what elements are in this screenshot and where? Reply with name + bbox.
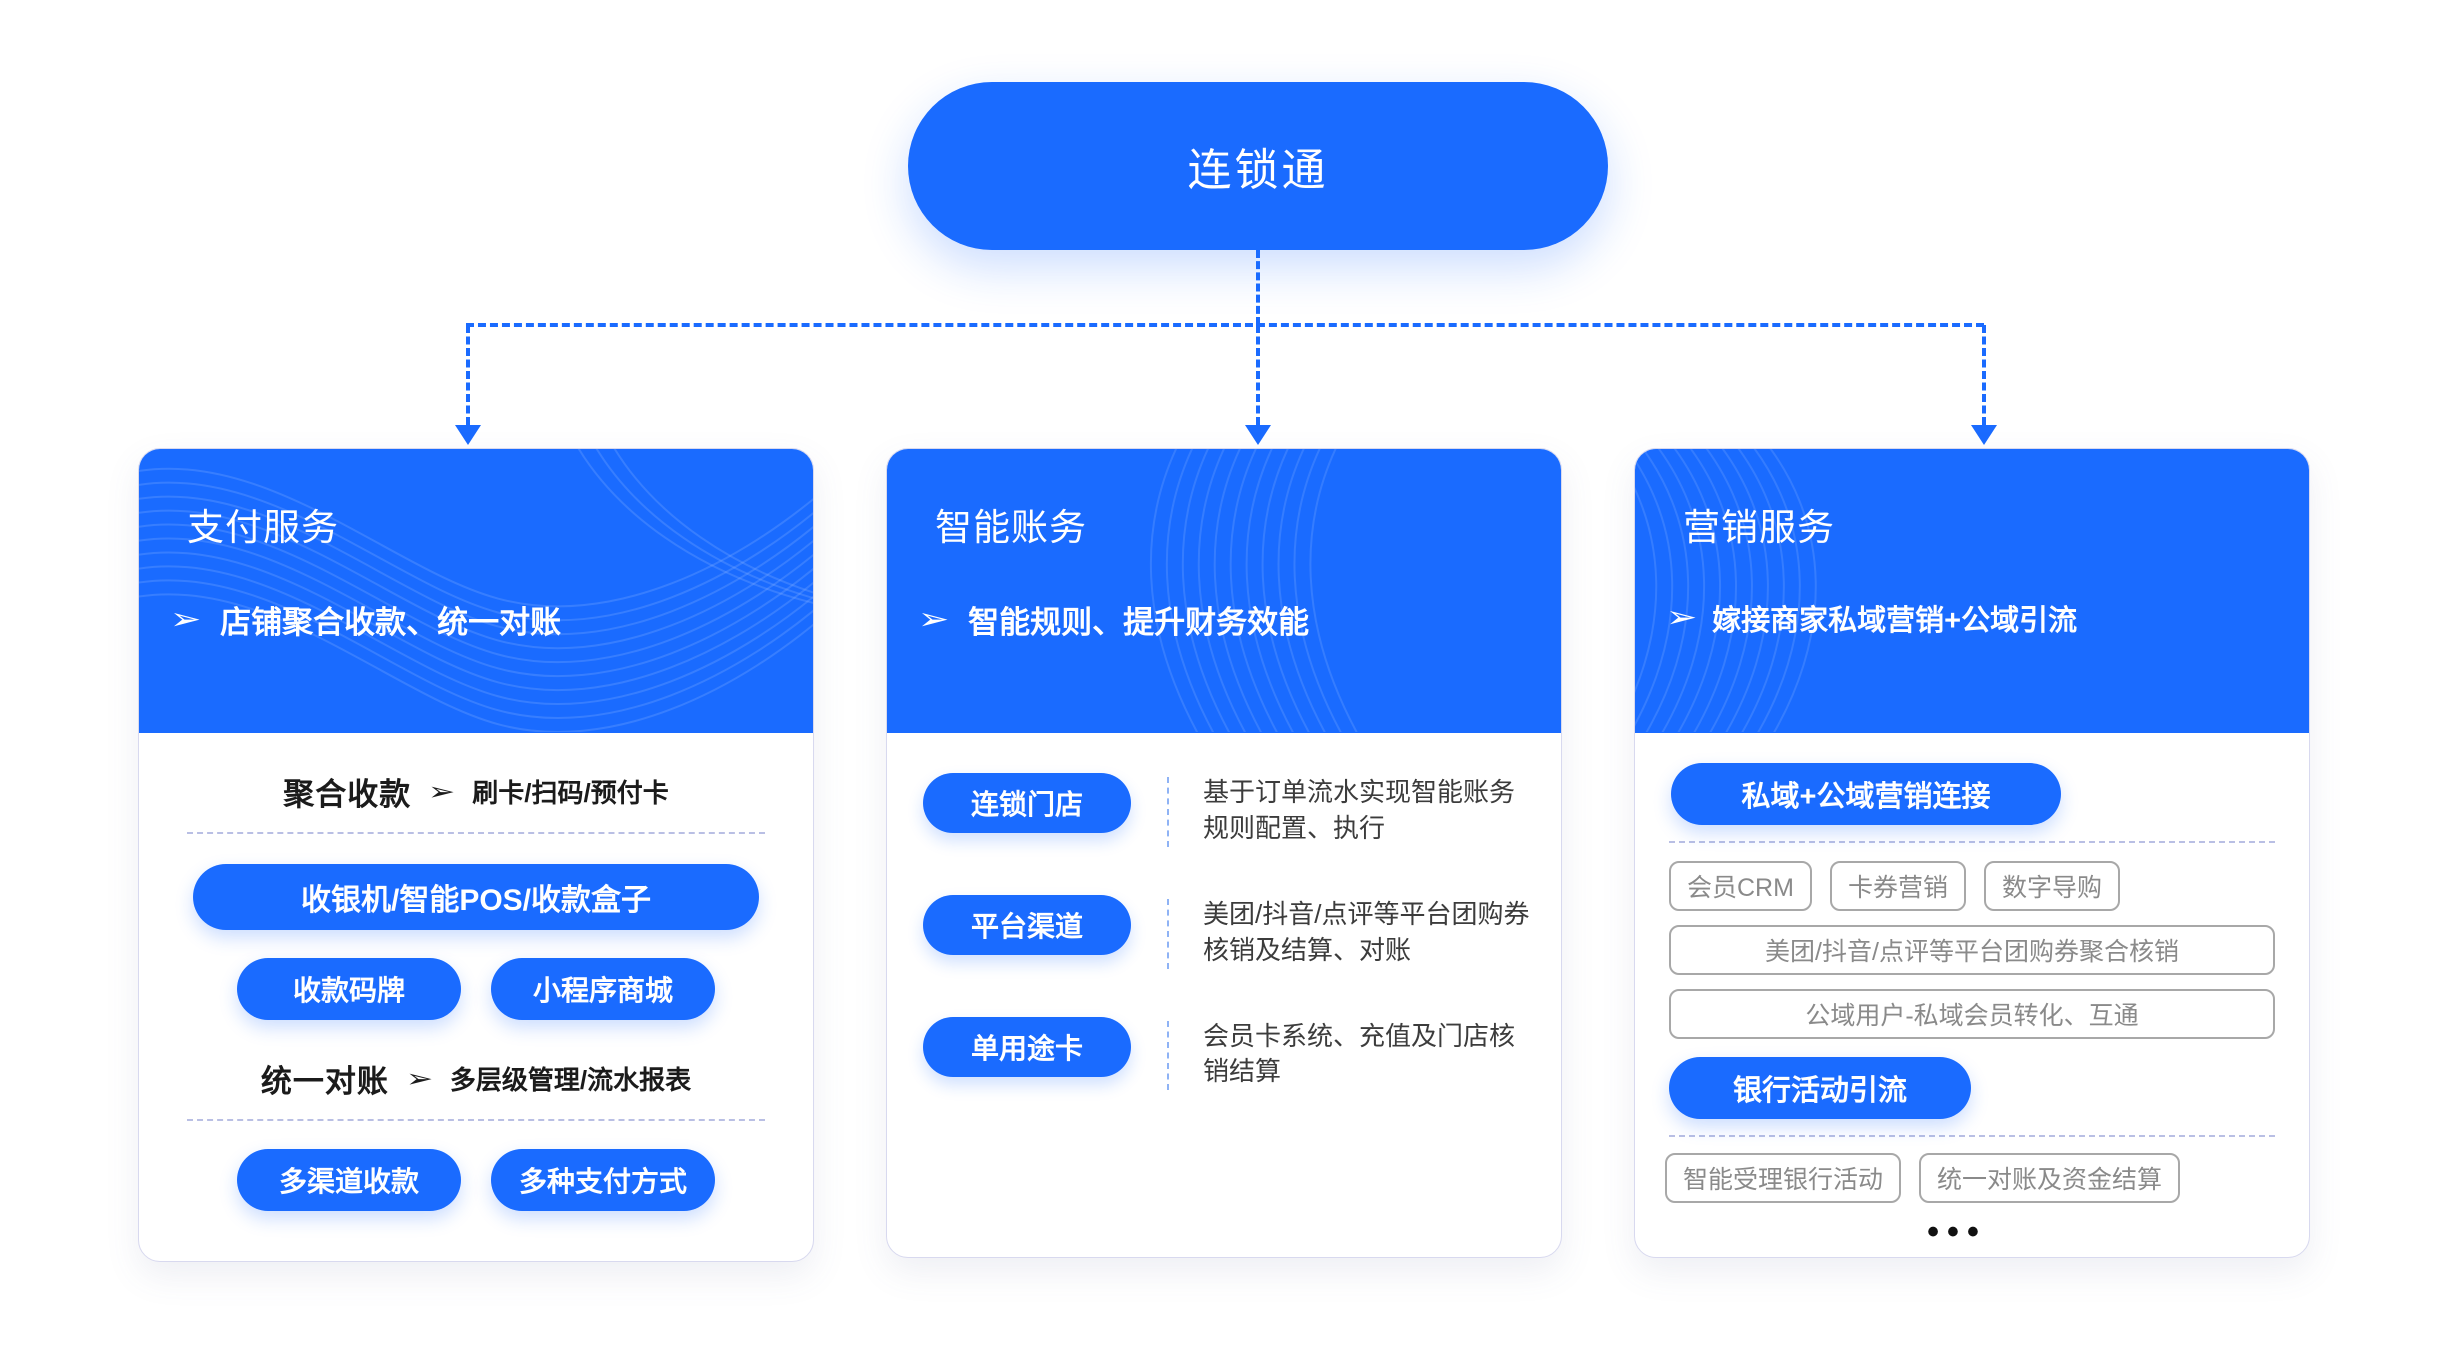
card2-subtitle: 智能规则、提升财务效能 (968, 597, 1309, 642)
card2-feature-row-1: 连锁门店 基于订单流水实现智能账务规则配置、执行 (913, 773, 1535, 847)
card3-tag-digital-guide[interactable]: 数字导购 (1984, 861, 2120, 911)
card2-subtitle-row: ➢ 智能规则、提升财务效能 (921, 597, 1527, 642)
card1-header: 支付服务 ➢ 店铺聚合收款、统一对账 (139, 449, 813, 733)
card1-section2-title: 统一对账 (261, 1056, 389, 1101)
connector-drop-card3 (1982, 325, 1986, 425)
card1-divider-2 (187, 1119, 765, 1121)
card1-section1-sub: 刷卡/扫码/预付卡 (472, 773, 668, 810)
wave-decoration-icon (1635, 449, 2309, 732)
card3-tag-groupon-redemption[interactable]: 美团/抖音/点评等平台团购券聚合核销 (1669, 925, 2275, 975)
card1-pill-qrcode[interactable]: 收款码牌 (237, 958, 461, 1020)
arrow-icon-card2 (1245, 425, 1271, 445)
chevron-right-icon: ➢ (428, 777, 455, 807)
card3-tag-smart-bank-activity[interactable]: 智能受理银行活动 (1665, 1153, 1901, 1203)
card2-desc-3: 会员卡系统、充值及门店核销结算 (1203, 1017, 1535, 1091)
card3-title: 营销服务 (1683, 497, 2275, 551)
chevron-right-icon: ➢ (170, 605, 201, 635)
card1-subtitle: 店铺聚合收款、统一对账 (220, 597, 561, 642)
card2-pill-single-use-card[interactable]: 单用途卡 (923, 1017, 1131, 1077)
card-marketing-service[interactable]: 营销服务 ➢ 嫁接商家私域营销+公域引流 私域+公域营销连接 会员CRM 卡券营… (1634, 448, 2310, 1258)
card1-title: 支付服务 (187, 497, 779, 551)
card1-section1-heading: 聚合收款 ➢ 刷卡/扫码/预付卡 (165, 769, 787, 814)
card3-tagrow-2: 美团/抖音/点评等平台团购券聚合核销 (1669, 925, 2275, 975)
connector-stem (1256, 250, 1260, 325)
card1-section2-sub: 多层级管理/流水报表 (450, 1060, 691, 1097)
connector-drop-card2 (1256, 325, 1260, 425)
wave-decoration-icon (139, 449, 813, 732)
card2-desc-1: 基于订单流水实现智能账务规则配置、执行 (1203, 773, 1535, 847)
card1-pill-multipay[interactable]: 多种支付方式 (491, 1149, 715, 1211)
chevron-right-icon: ➢ (406, 1064, 433, 1094)
card-payment-service[interactable]: 支付服务 ➢ 店铺聚合收款、统一对账 聚合收款 ➢ 刷卡/扫码/预付卡 收银机/… (138, 448, 814, 1262)
connector-drop-card1 (466, 325, 470, 425)
card1-pillrow-3: 多渠道收款 多种支付方式 (165, 1149, 787, 1211)
root-node-label: 连锁通 (1188, 134, 1329, 198)
card-smart-accounting[interactable]: 智能账务 ➢ 智能规则、提升财务效能 连锁门店 基于订单流水实现智能账务规则配置… (886, 448, 1562, 1258)
card1-pillrow-2: 收款码牌 小程序商城 (165, 958, 787, 1020)
card1-pill-miniprogram[interactable]: 小程序商城 (491, 958, 715, 1020)
card3-tagrow-4: 智能受理银行活动 统一对账及资金结算 (1665, 1153, 2283, 1203)
card1-subtitle-row: ➢ 店铺聚合收款、统一对账 (173, 597, 779, 642)
card2-divider-1 (1167, 777, 1169, 847)
card2-pill-chain-store[interactable]: 连锁门店 (923, 773, 1131, 833)
card1-pill-pos[interactable]: 收银机/智能POS/收款盒子 (193, 864, 759, 930)
card3-divider-2 (1669, 1135, 2275, 1137)
card3-tag-unified-settlement[interactable]: 统一对账及资金结算 (1919, 1153, 2180, 1203)
arrow-icon-card3 (1971, 425, 1997, 445)
card2-desc-2: 美团/抖音/点评等平台团购券核销及结算、对账 (1203, 895, 1535, 969)
card1-divider-1 (187, 832, 765, 834)
card2-feature-row-3: 单用途卡 会员卡系统、充值及门店核销结算 (913, 1017, 1535, 1091)
card1-section2-heading: 统一对账 ➢ 多层级管理/流水报表 (165, 1056, 787, 1101)
connector-bus (466, 323, 1984, 327)
card1-body: 聚合收款 ➢ 刷卡/扫码/预付卡 收银机/智能POS/收款盒子 收款码牌 小程序… (139, 769, 813, 1211)
card3-header: 营销服务 ➢ 嫁接商家私域营销+公域引流 (1635, 449, 2309, 733)
chevron-right-icon: ➢ (918, 605, 949, 635)
card3-tagrow-3: 公域用户-私域会员转化、互通 (1669, 989, 2275, 1039)
card3-divider-1 (1669, 841, 2275, 843)
card3-more-indicator[interactable]: ••• (1661, 1215, 2253, 1249)
card1-section1-title: 聚合收款 (283, 769, 411, 814)
card3-tagrow-1: 会员CRM 卡券营销 数字导购 (1669, 861, 2283, 911)
chevron-right-icon: ➢ (1666, 603, 1697, 633)
card3-tag-coupon-marketing[interactable]: 卡券营销 (1830, 861, 1966, 911)
card3-body: 私域+公域营销连接 会员CRM 卡券营销 数字导购 美团/抖音/点评等平台团购券… (1635, 763, 2309, 1249)
card2-title: 智能账务 (935, 497, 1527, 551)
card2-header: 智能账务 ➢ 智能规则、提升财务效能 (887, 449, 1561, 733)
card3-leadpill-row: 私域+公域营销连接 (1661, 763, 2283, 825)
card3-pill-private-public-link[interactable]: 私域+公域营销连接 (1671, 763, 2061, 825)
card2-pill-platform-channel[interactable]: 平台渠道 (923, 895, 1131, 955)
card2-feature-row-2: 平台渠道 美团/抖音/点评等平台团购券核销及结算、对账 (913, 895, 1535, 969)
arrow-icon-card1 (455, 425, 481, 445)
diagram-canvas: 连锁通 (0, 0, 2440, 1372)
card3-pill-bank-activity[interactable]: 银行活动引流 (1669, 1057, 1971, 1119)
card2-divider-3 (1167, 1021, 1169, 1091)
card3-bankpill-row: 银行活动引流 (1661, 1057, 2283, 1119)
wave-decoration-icon (887, 449, 1561, 732)
card1-pill-multichannel[interactable]: 多渠道收款 (237, 1149, 461, 1211)
root-node[interactable]: 连锁通 (908, 82, 1608, 250)
card3-subtitle-row: ➢ 嫁接商家私域营销+公域引流 (1669, 597, 2275, 639)
card3-subtitle: 嫁接商家私域营销+公域引流 (1712, 597, 2077, 639)
card1-pillrow-1: 收银机/智能POS/收款盒子 (165, 864, 787, 930)
card2-body: 连锁门店 基于订单流水实现智能账务规则配置、执行 平台渠道 美团/抖音/点评等平… (887, 773, 1561, 1090)
card3-tag-member-crm[interactable]: 会员CRM (1669, 861, 1812, 911)
card2-divider-2 (1167, 899, 1169, 969)
card3-tag-public-private-conversion[interactable]: 公域用户-私域会员转化、互通 (1669, 989, 2275, 1039)
